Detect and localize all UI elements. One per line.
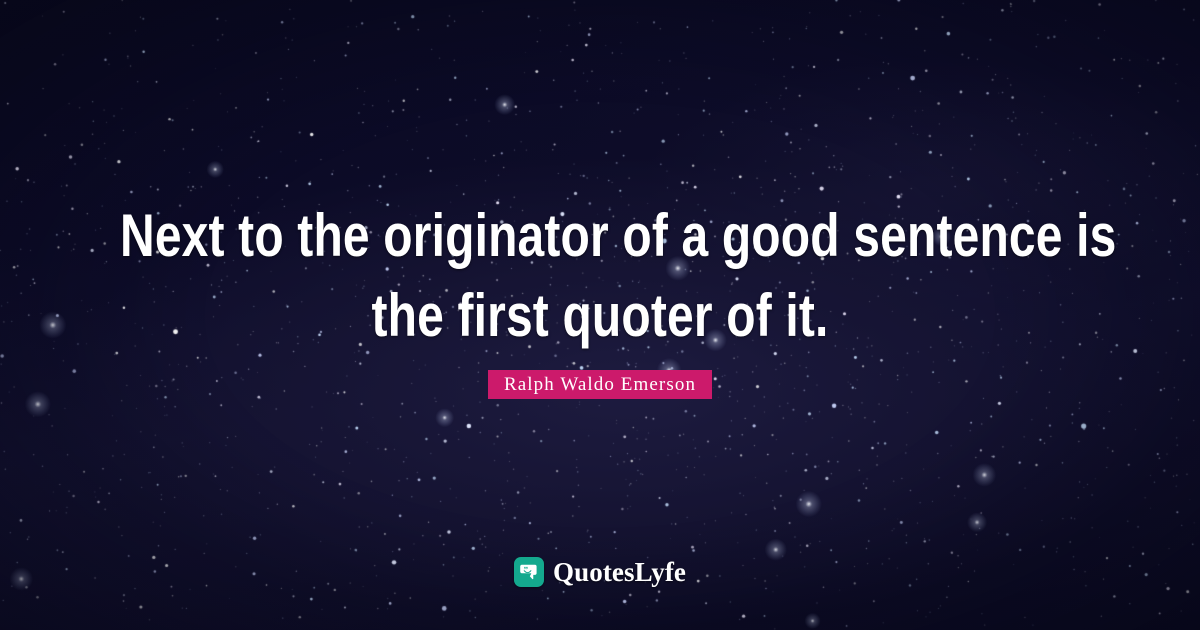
quote-text: Next to the originator of a good sentenc… xyxy=(0,196,1200,356)
quote-line-2: the first quoter of it. xyxy=(120,276,1080,356)
quote-card: Next to the originator of a good sentenc… xyxy=(0,0,1200,630)
brand-name: QuotesLyfe xyxy=(553,557,686,587)
brand-logo[interactable]: QuotesLyfe xyxy=(0,557,1200,587)
author-attribution: Ralph Waldo Emerson xyxy=(0,370,1200,399)
quote-smiley-speech-bubble-icon xyxy=(514,557,544,587)
author-name-badge: Ralph Waldo Emerson xyxy=(488,370,712,399)
quote-line-1: Next to the originator of a good sentenc… xyxy=(120,196,1080,276)
